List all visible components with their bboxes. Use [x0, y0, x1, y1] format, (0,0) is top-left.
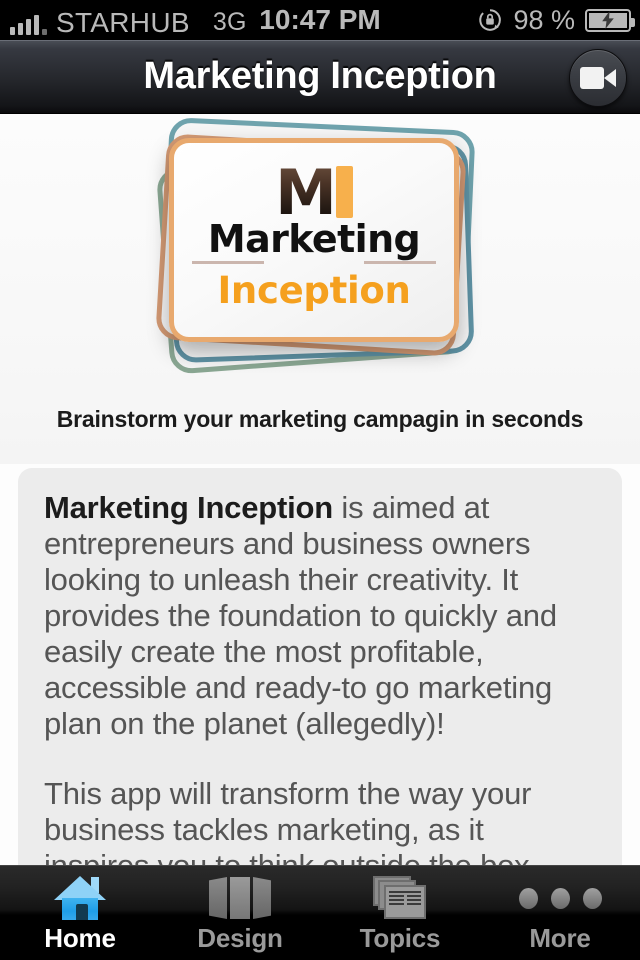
tab-home[interactable]: Home [0, 866, 160, 960]
tab-bar: Home Design [0, 865, 640, 960]
tab-home-label: Home [44, 923, 115, 954]
paragraph-1-lead: Marketing Inception [44, 490, 333, 525]
tab-design-label: Design [197, 923, 282, 954]
status-bar-right: 98 % [477, 5, 640, 36]
logo-letter-m: M [275, 162, 335, 224]
paragraph-1: Marketing Inception is aimed at entrepre… [44, 490, 596, 742]
tab-design[interactable]: Design [160, 866, 320, 960]
app-screen: STARHUB 3G 10:47 PM 98 % Ma [0, 0, 640, 960]
tab-topics[interactable]: Topics [320, 866, 480, 960]
navigation-bar: Marketing Inception [0, 40, 640, 114]
battery-charging-icon [585, 9, 631, 32]
paragraph-1-body: is aimed at entrepreneurs and business o… [44, 490, 557, 741]
video-button[interactable] [569, 49, 627, 107]
logo-letter-i-bar [336, 166, 353, 218]
status-bar: STARHUB 3G 10:47 PM 98 % [0, 0, 640, 40]
hero-section: M Marketing Inception Brainstorm your ma… [0, 114, 640, 464]
video-camera-icon [580, 67, 616, 89]
tab-topics-label: Topics [360, 923, 441, 954]
logo-word-marketing: Marketing [174, 217, 454, 261]
battery-percent-label: 98 % [513, 5, 575, 36]
paragraph-2: This app will transform the way your bus… [44, 776, 596, 872]
brochure-icon [209, 874, 271, 922]
ellipsis-icon [519, 874, 602, 922]
logo-divider [192, 261, 436, 264]
home-icon [52, 874, 108, 922]
logo-card-front: M Marketing Inception [169, 138, 459, 342]
rotation-lock-icon [477, 7, 503, 33]
logo-monogram: M [174, 165, 454, 221]
description-card[interactable]: Marketing Inception is aimed at entrepre… [18, 468, 622, 872]
logo-card-stack: M Marketing Inception [155, 132, 475, 357]
documents-icon [373, 874, 427, 922]
tab-more[interactable]: More [480, 866, 640, 960]
logo-word-inception: Inception [174, 269, 454, 312]
page-title: Marketing Inception [143, 55, 496, 98]
tab-more-label: More [529, 923, 590, 954]
tagline: Brainstorm your marketing campagin in se… [0, 406, 640, 433]
paragraph-2-body: This app will transform the way your bus… [44, 776, 538, 872]
